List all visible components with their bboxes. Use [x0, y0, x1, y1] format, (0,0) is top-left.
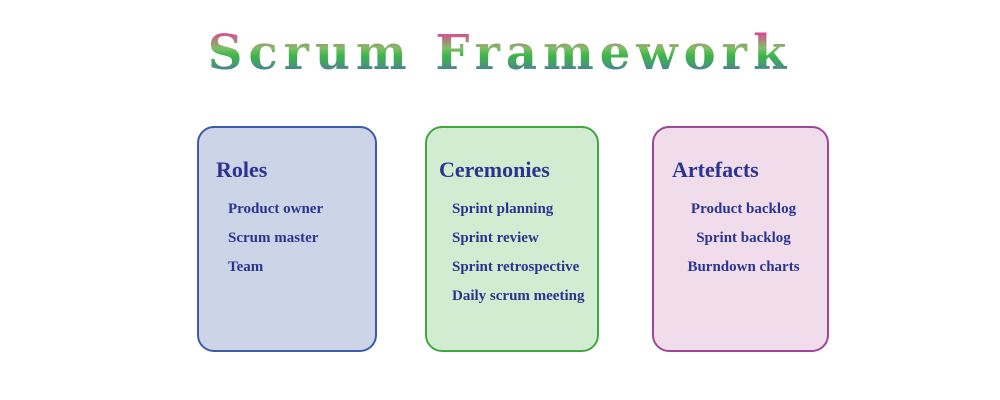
list-item: Team: [228, 253, 323, 282]
card-artefacts[interactable]: Artefacts Product backlog Sprint backlog…: [652, 126, 829, 352]
list-item: Product backlog: [676, 195, 811, 224]
list-item: Sprint planning: [452, 195, 584, 224]
card-ceremonies-heading: Ceremonies: [439, 157, 550, 183]
diagram-canvas: Scrum Framework Roles Product owner Scru…: [0, 0, 1000, 400]
list-item: Sprint review: [452, 224, 584, 253]
card-ceremonies-list: Sprint planning Sprint review Sprint ret…: [452, 195, 584, 311]
page-title-container: Scrum Framework: [0, 22, 1000, 84]
list-item: Scrum master: [228, 224, 323, 253]
list-item: Daily scrum meeting: [452, 282, 584, 311]
list-item: Burndown charts: [676, 253, 811, 282]
card-artefacts-list: Product backlog Sprint backlog Burndown …: [676, 195, 811, 282]
list-item: Sprint backlog: [676, 224, 811, 253]
list-item: Sprint retrospective: [452, 253, 584, 282]
card-roles[interactable]: Roles Product owner Scrum master Team: [197, 126, 377, 352]
card-roles-list: Product owner Scrum master Team: [228, 195, 323, 282]
page-title: Scrum Framework: [208, 22, 792, 84]
list-item: Product owner: [228, 195, 323, 224]
card-ceremonies[interactable]: Ceremonies Sprint planning Sprint review…: [425, 126, 599, 352]
card-roles-heading: Roles: [216, 157, 267, 183]
card-artefacts-heading: Artefacts: [672, 157, 759, 183]
